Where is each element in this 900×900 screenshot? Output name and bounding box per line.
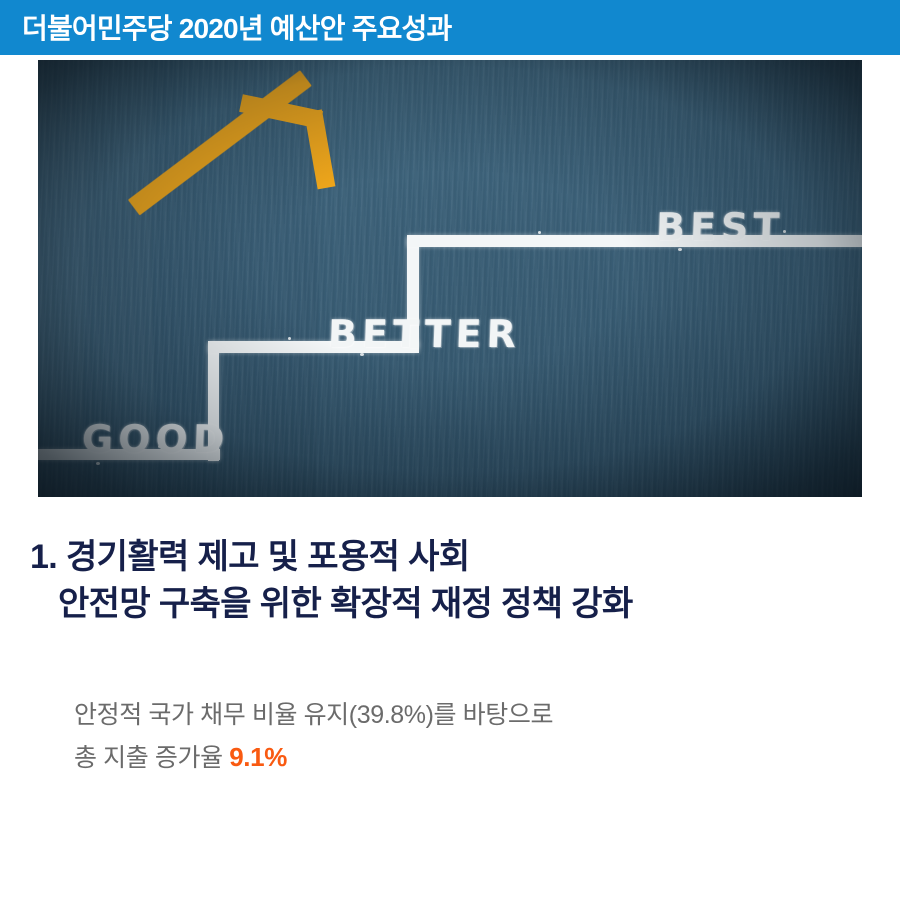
body-line-2: 총 지출 증가율 9.1% [74,736,864,779]
body-line-2-prefix: 총 지출 증가율 [74,744,229,772]
page-headline: 1. 경기활력 제고 및 포용적 사회 안전망 구축을 위한 확장적 재정 정책… [30,534,880,628]
body-line-1: 안정적 국가 채무 비율 유지(39.8%)를 바탕으로 [74,694,864,736]
headline-line-2: 안전망 구축을 위한 확장적 재정 정책 강화 [30,581,880,628]
metric-highlight: 9.1% [229,742,287,772]
chalkboard-photo: GOOD BETTER BEST [38,60,862,497]
body-copy: 안정적 국가 채무 비율 유지(39.8%)를 바탕으로 총 지출 증가율 9.… [74,694,864,779]
banner-title: 더불어민주당 2020년 예산안 주요성과 [22,7,451,47]
header-banner: 더불어민주당 2020년 예산안 주요성과 [0,0,900,55]
headline-line-1: 1. 경기활력 제고 및 포용적 사회 [30,538,470,576]
chalkboard-vignette [38,60,862,497]
